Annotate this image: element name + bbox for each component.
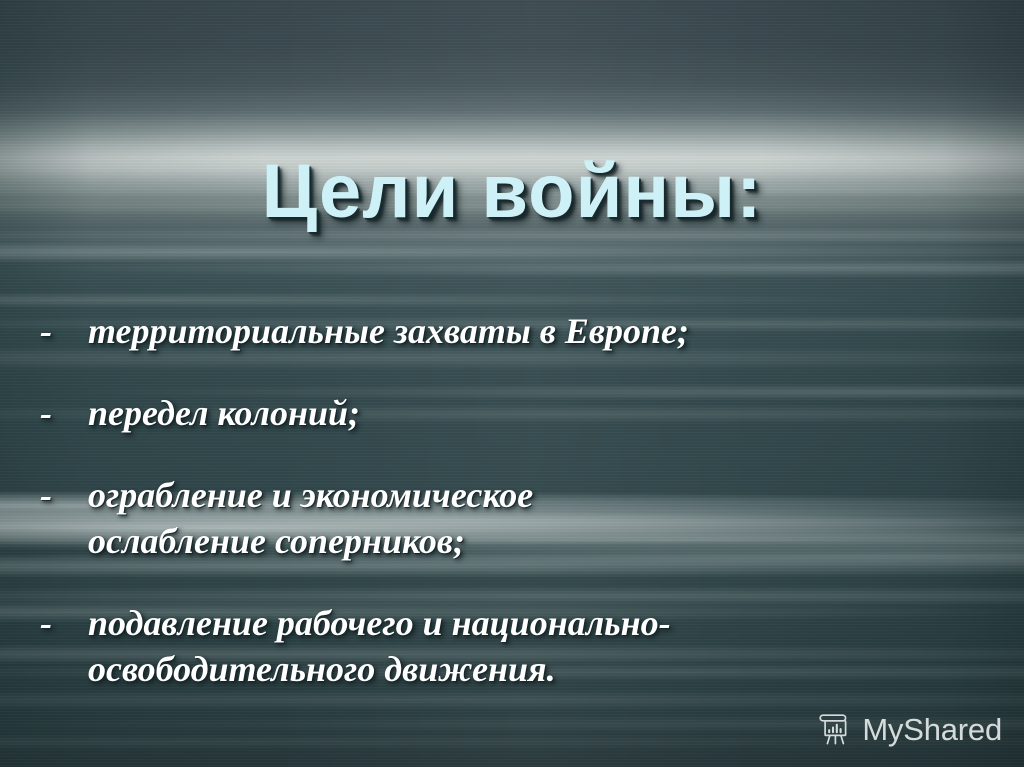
bullet-text: ограбление и экономическое ослабление со… bbox=[88, 475, 533, 561]
flipchart-bar-chart-icon bbox=[816, 712, 852, 748]
myshared-watermark: MyShared bbox=[816, 712, 1002, 748]
bullet-item: -передел колоний; bbox=[40, 390, 994, 436]
bullet-text: территориальные захваты в Европе; bbox=[88, 311, 689, 351]
bullet-text: подавление рабочего и национально- освоб… bbox=[88, 603, 671, 689]
bullet-item: -подавление рабочего и национально- осво… bbox=[40, 600, 994, 692]
slide-title: Цели войны: bbox=[0, 148, 1024, 236]
presentation-slide: Цели войны: -территориальные захваты в Е… bbox=[0, 0, 1024, 767]
slide-bullet-list: -территориальные захваты в Европе; -пере… bbox=[40, 272, 994, 692]
bullet-marker: - bbox=[40, 308, 88, 354]
bullet-marker: - bbox=[40, 600, 88, 646]
bullet-item: -ограбление и экономическое ослабление с… bbox=[40, 472, 994, 564]
bullet-item: -территориальные захваты в Европе; bbox=[40, 308, 994, 354]
bullet-marker: - bbox=[40, 390, 88, 436]
myshared-watermark-label: MyShared bbox=[862, 713, 1002, 747]
bullet-text: передел колоний; bbox=[88, 393, 360, 433]
bullet-marker: - bbox=[40, 472, 88, 518]
